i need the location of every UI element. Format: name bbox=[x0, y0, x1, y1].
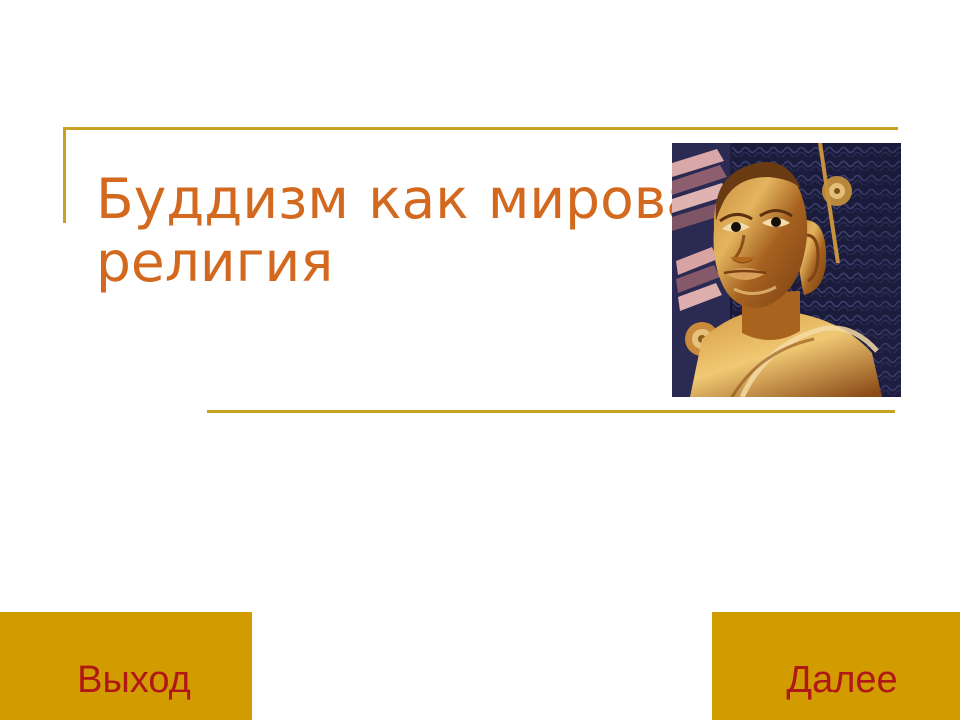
exit-button[interactable]: Выход bbox=[0, 612, 252, 720]
exit-button-label: Выход bbox=[77, 661, 191, 699]
next-button[interactable]: Далее bbox=[712, 612, 960, 720]
separator-rule bbox=[207, 410, 895, 413]
frame-left-line bbox=[63, 127, 66, 223]
presentation-slide: Буддизм как мировая религия bbox=[0, 0, 960, 720]
next-button-label: Далее bbox=[786, 661, 897, 699]
buddha-statue-image bbox=[672, 143, 901, 397]
frame-top-line bbox=[63, 127, 898, 130]
